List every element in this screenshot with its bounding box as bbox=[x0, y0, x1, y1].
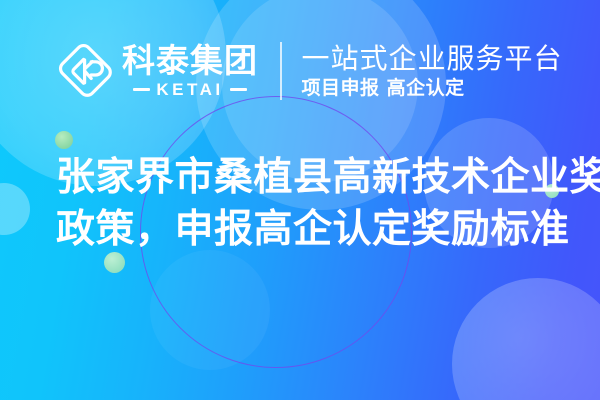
accent-dot-upper-left bbox=[55, 131, 73, 149]
brand-name-en-row: KETAI bbox=[122, 81, 258, 98]
brand-name-cn: 科泰集团 bbox=[122, 44, 258, 77]
tagline-primary: 一站式企业服务平台 bbox=[302, 43, 563, 74]
ketai-kp-monogram-icon bbox=[58, 43, 114, 99]
background-circle-edge-left bbox=[0, 183, 30, 235]
tagline-block: 一站式企业服务平台 项目申报 高企认定 bbox=[302, 43, 563, 98]
banner-header: 科泰集团 KETAI 一站式企业服务平台 项目申报 高企认定 bbox=[58, 42, 563, 100]
header-divider bbox=[280, 42, 282, 100]
tagline-secondary: 项目申报 高企认定 bbox=[302, 78, 563, 99]
wordmark-rule-right bbox=[230, 88, 247, 91]
promo-banner: 科泰集团 KETAI 一站式企业服务平台 项目申报 高企认定 张家界市桑植县高新… bbox=[0, 0, 600, 400]
headline-line-2: 政策，申报高企认定奖励标准 bbox=[56, 204, 566, 256]
wordmark-rule-left bbox=[133, 88, 150, 91]
brand-name-en: KETAI bbox=[156, 81, 223, 98]
headline-block: 张家界市桑植县高新技术企业奖励 政策，申报高企认定奖励标准 bbox=[56, 152, 566, 257]
background-circle-lower-left bbox=[150, 250, 270, 370]
background-circle-bottom-right bbox=[452, 278, 600, 400]
brand-wordmark: 科泰集团 KETAI bbox=[122, 44, 258, 98]
headline-line-1: 张家界市桑植县高新技术企业奖励 bbox=[56, 152, 566, 204]
brand-logo: 科泰集团 KETAI bbox=[58, 43, 258, 99]
